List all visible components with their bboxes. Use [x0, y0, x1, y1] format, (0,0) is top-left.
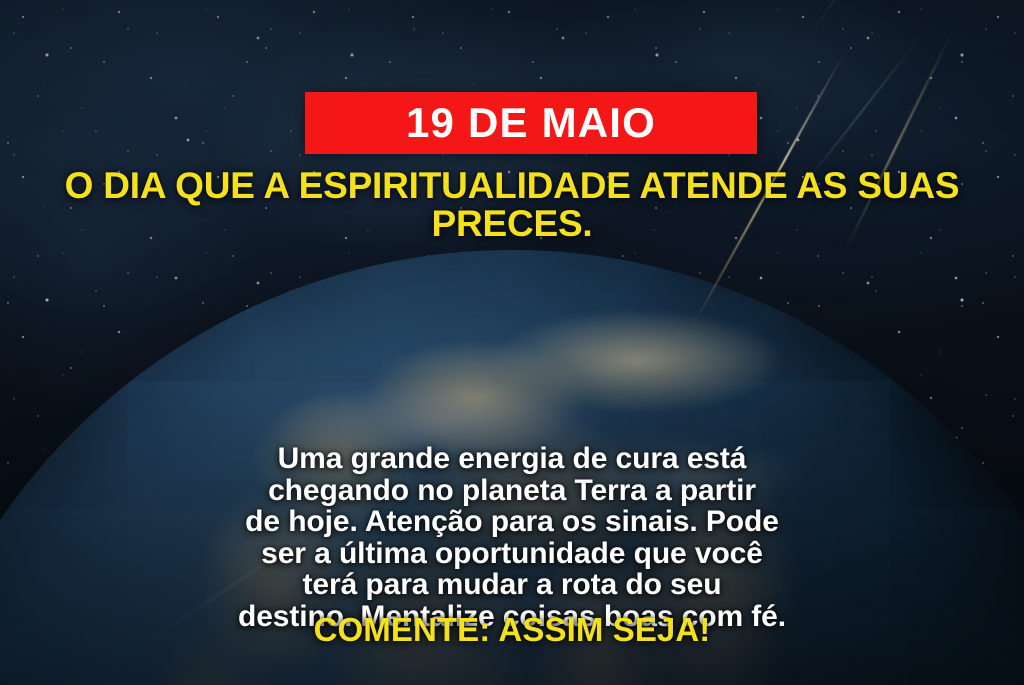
- body-line: de hoje. Atenção para os sinais. Pode: [56, 506, 968, 538]
- date-banner: 19 DE MAIO: [305, 92, 757, 154]
- body-line: terá para mudar a rota do seu: [56, 569, 968, 601]
- poster-content: 19 DE MAIO O DIA QUE A ESPIRITUALIDADE A…: [0, 0, 1024, 685]
- headline-text: O DIA QUE A ESPIRITUALIDADE ATENDE AS SU…: [0, 167, 1024, 243]
- poster-canvas: 19 DE MAIO O DIA QUE A ESPIRITUALIDADE A…: [0, 0, 1024, 685]
- body-line: Uma grande energia de cura está: [56, 443, 968, 475]
- body-line: ser a última oportunidade que você: [56, 538, 968, 570]
- body-copy: Uma grande energia de cura está chegando…: [0, 443, 1024, 632]
- call-to-action-text: COMENTE: ASSIM SEJA!: [0, 612, 1024, 648]
- body-line: chegando no planeta Terra a partir: [56, 475, 968, 507]
- date-banner-label: 19 DE MAIO: [406, 102, 656, 144]
